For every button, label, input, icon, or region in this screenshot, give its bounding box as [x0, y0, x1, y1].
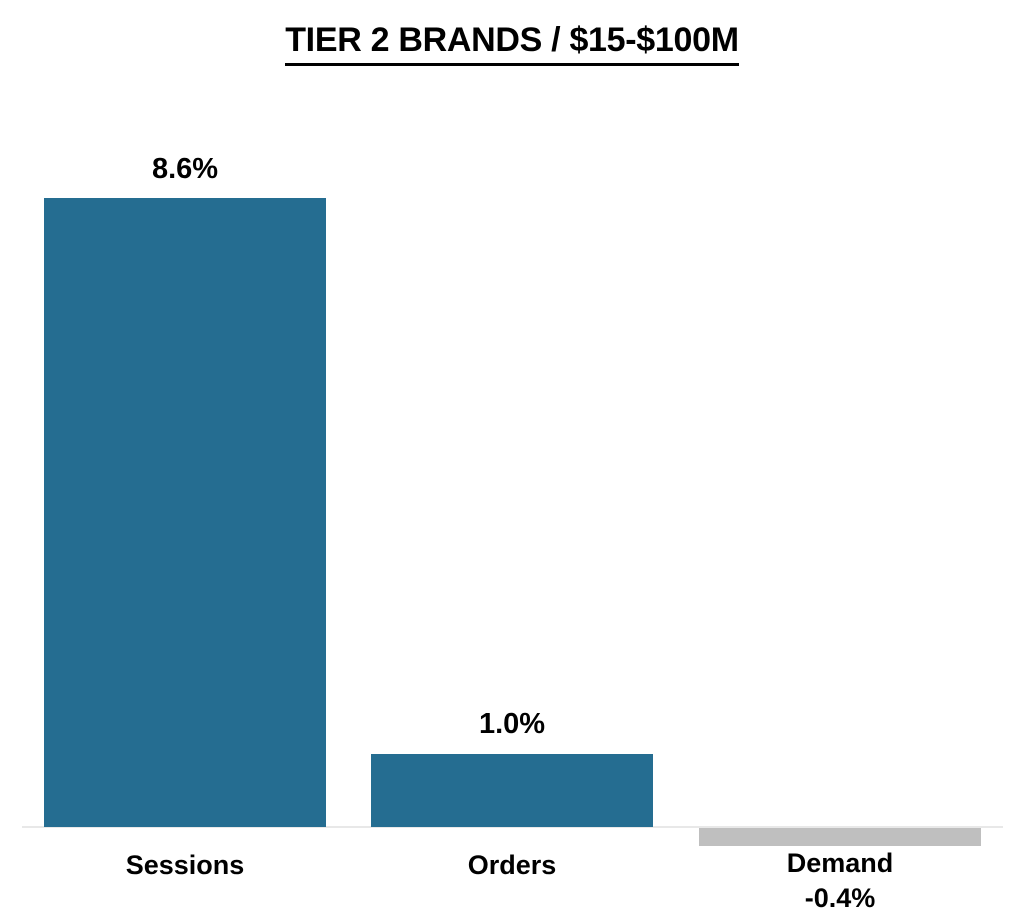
category-label-demand: Demand -0.4%: [699, 846, 981, 916]
category-label-sessions: Sessions: [44, 848, 326, 882]
chart-container: TIER 2 BRANDS / $15-$100M 8.6% Sessions …: [0, 0, 1024, 924]
bar-sessions[interactable]: [44, 198, 326, 827]
value-label-orders: 1.0%: [371, 707, 653, 741]
category-label-demand-text: Demand: [787, 848, 894, 878]
value-label-sessions: 8.6%: [44, 152, 326, 186]
bar-orders[interactable]: [371, 754, 653, 827]
bar-group-orders: 1.0% Orders: [371, 0, 653, 924]
value-label-demand: -0.4%: [699, 880, 981, 916]
bar-group-sessions: 8.6% Sessions: [44, 0, 326, 924]
bar-group-demand: Demand -0.4%: [699, 0, 981, 924]
category-label-orders: Orders: [371, 848, 653, 882]
bar-demand[interactable]: [699, 828, 981, 846]
plot-area: 8.6% Sessions 1.0% Orders Demand -0.4%: [0, 0, 1024, 924]
